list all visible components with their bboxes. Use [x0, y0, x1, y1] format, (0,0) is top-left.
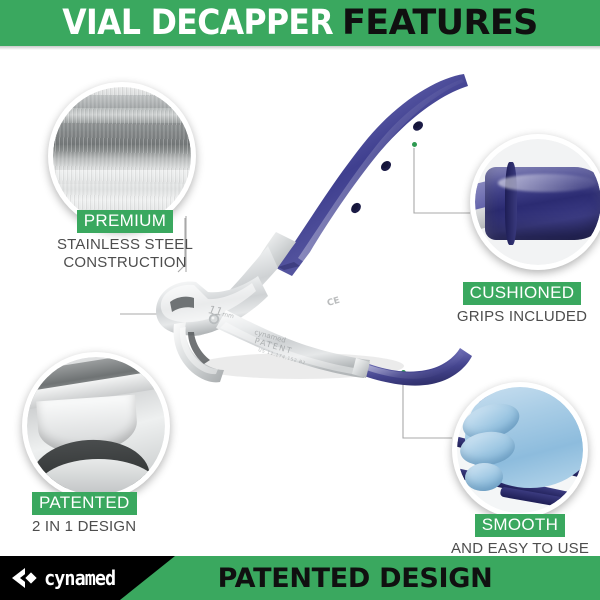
feature-chip-smooth: SMOOTH [475, 514, 565, 537]
header-shadow [0, 46, 600, 50]
header-banner: VIAL DECAPPER FEATURES [0, 0, 600, 46]
cynamed-chevron-icon [12, 568, 38, 589]
feature-photo-smooth [452, 382, 588, 518]
feature-photo-patented [22, 352, 170, 500]
feature-chip-premium: PREMIUM [77, 210, 173, 233]
feature-chip-patented: PATENTED [32, 492, 137, 515]
footer-banner: PATENTED DESIGN cynamed [0, 556, 600, 600]
brand-logo-wordmark: cynamed [44, 566, 115, 590]
svg-text:CE: CE [326, 296, 341, 309]
feature-sub-premium-line2: CONSTRUCTION [50, 254, 200, 272]
header-title-secondary: FEATURES [342, 3, 538, 43]
feature-chip-cushioned: CUSHIONED [463, 282, 582, 305]
feature-sub-patented-line1: 2 IN 1 DESIGN [32, 518, 202, 536]
feature-photo-premium [48, 82, 196, 230]
infographic-page: VIAL DECAPPER FEATURES [0, 0, 600, 600]
feature-sub-cushioned-line1: GRIPS INCLUDED [444, 308, 600, 326]
feature-label-patented: PATENTED 2 IN 1 DESIGN [32, 492, 202, 536]
header-title-primary: VIAL DECAPPER [62, 3, 333, 43]
feature-sub-premium-line1: STAINLESS STEEL [50, 236, 200, 254]
header-title-group: VIAL DECAPPER FEATURES [62, 3, 537, 43]
feature-label-cushioned: CUSHIONED GRIPS INCLUDED [444, 282, 600, 326]
feature-label-smooth: SMOOTH AND EASY TO USE [442, 514, 598, 558]
feature-photo-cushioned [470, 134, 600, 270]
brand-logo: cynamed [12, 566, 118, 590]
feature-label-premium: PREMIUM STAINLESS STEEL CONSTRUCTION [50, 210, 200, 272]
